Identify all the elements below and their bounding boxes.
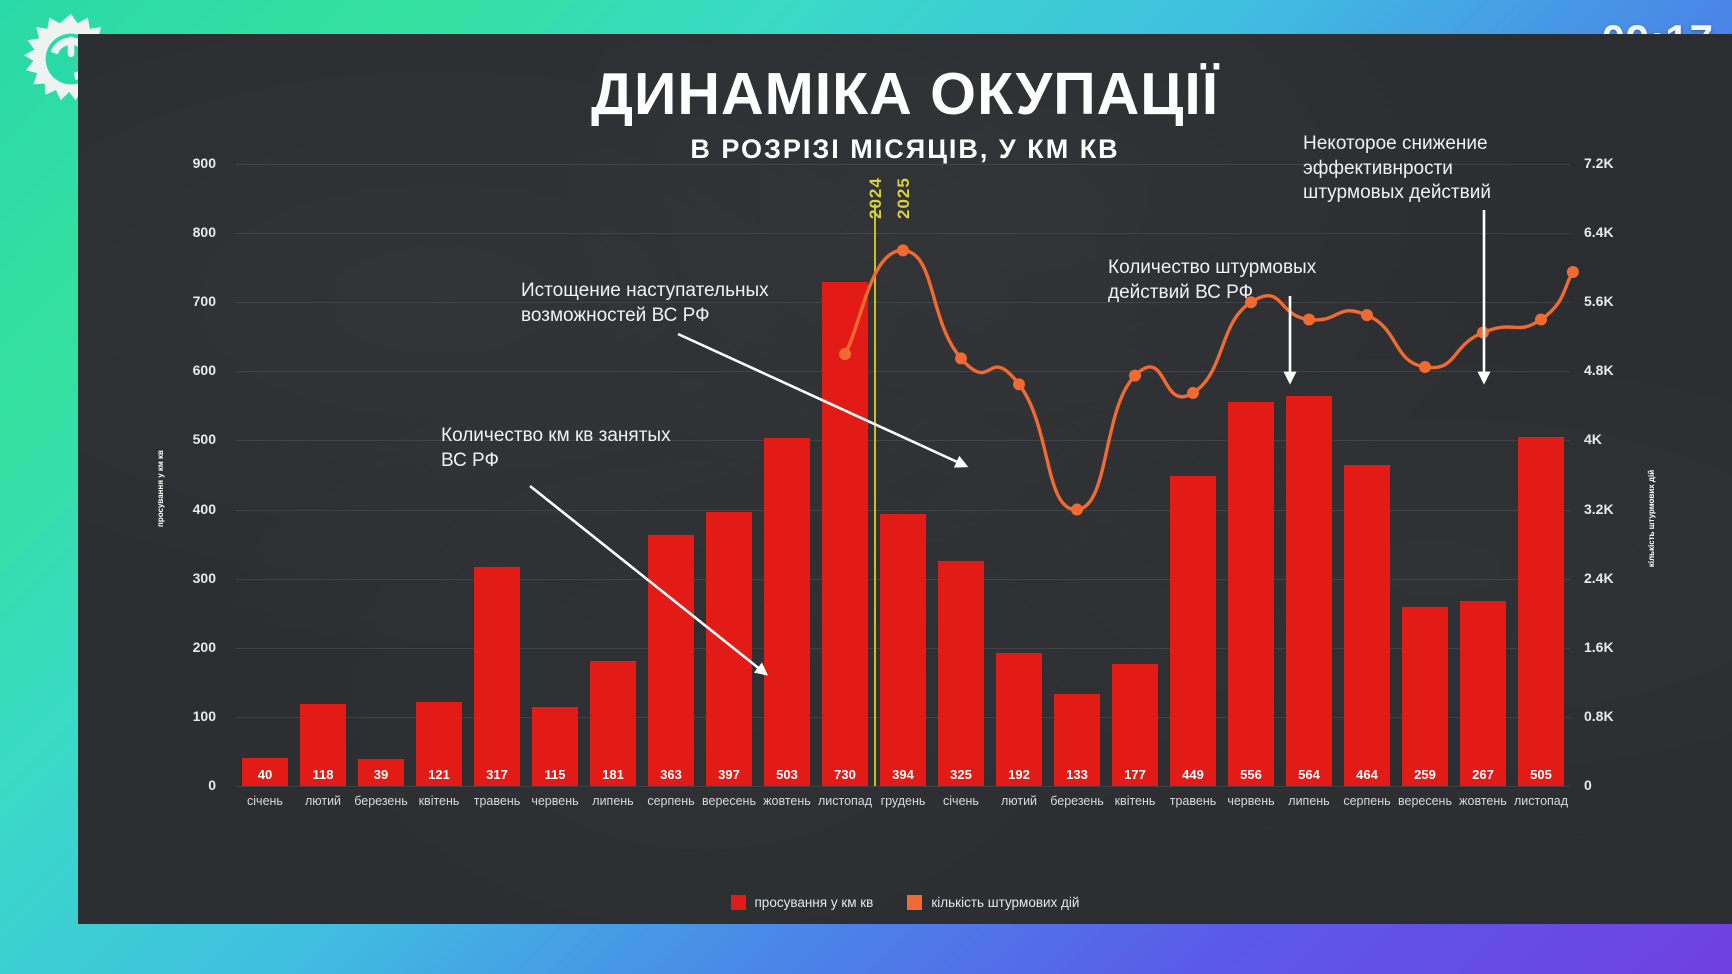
y-axis-right-tick: 0 [1584,777,1630,793]
bar-value-label: 121 [416,767,462,782]
year-label-2024: 2024 [866,177,886,219]
bar-column[interactable]: 397 [706,512,752,786]
bar-column[interactable]: 118 [300,704,346,786]
bar[interactable] [474,567,520,786]
y-axis-right-tick: 7.2K [1584,155,1630,171]
x-axis-month-labels: січеньлютийберезеньквітеньтравеньчервень… [236,790,1570,820]
bar-column[interactable]: 363 [648,535,694,786]
chart-legend: просування у км квкількість штурмових ді… [78,895,1732,910]
bar[interactable] [1286,396,1332,786]
y-axis-right-tick: 5.6K [1584,293,1630,309]
bar-column[interactable]: 267 [1460,601,1506,786]
bar-value-label: 325 [938,767,984,782]
y-axis-left-tick: 700 [170,293,216,309]
y-axis-left-title: просування у км кв [156,450,165,527]
bar-value-label: 505 [1518,767,1564,782]
y-axis-right-title: кількість штурмових дій [1647,470,1656,567]
bar-column[interactable]: 449 [1170,476,1216,786]
x-axis-tick-label: листопад [1500,794,1582,808]
bar-column[interactable]: 325 [938,561,984,786]
bar-column[interactable]: 503 [764,438,810,786]
bar-column[interactable]: 181 [590,661,636,786]
legend-item[interactable]: просування у км кв [731,895,874,910]
bar-value-label: 40 [242,767,288,782]
bar[interactable] [648,535,694,786]
bar-value-label: 267 [1460,767,1506,782]
y-axis-right-tick: 4K [1584,431,1630,447]
bar[interactable] [938,561,984,786]
y-axis-right-tick: 0.8K [1584,708,1630,724]
anno-exhaustion: Истощение наступательных возможностей ВС… [521,279,811,328]
bar-column[interactable]: 39 [358,759,404,786]
legend-label: кількість штурмових дій [931,895,1079,910]
y-axis-right-tick: 4.8K [1584,362,1630,378]
bar-value-label: 192 [996,767,1042,782]
y-axis-left-tick: 200 [170,639,216,655]
bar-column[interactable]: 121 [416,702,462,786]
y-axis-right-tick: 3.2K [1584,501,1630,517]
bar[interactable] [1460,601,1506,786]
year-label-2025: 2025 [894,177,914,219]
bar-column[interactable]: 317 [474,567,520,786]
bar-value-label: 363 [648,767,694,782]
bar-column[interactable]: 464 [1344,465,1390,786]
bar[interactable] [1344,465,1390,786]
chart-plot-area: 0100200300400500600700800900 00.8K1.6K2.… [158,164,1648,864]
bar-value-label: 556 [1228,767,1274,782]
bar-column[interactable]: 564 [1286,396,1332,786]
bar[interactable] [1170,476,1216,786]
anno-assault-count: Количество штурмовых действий ВС РФ [1108,256,1368,305]
bar[interactable] [1518,437,1564,786]
bar-value-label: 730 [822,767,868,782]
anno-efficiency-drop: Некоторое снижение эффективнрости штурмо… [1303,132,1538,206]
y-axis-left-tick: 800 [170,224,216,240]
y-axis-left-tick: 300 [170,570,216,586]
bar-value-label: 177 [1112,767,1158,782]
anno-km-occupied: Количество км кв занятых ВС РФ [441,424,671,473]
bar-value-label: 259 [1402,767,1448,782]
bar-value-label: 181 [590,767,636,782]
bar[interactable] [822,282,868,787]
bar-column[interactable]: 177 [1112,664,1158,786]
bar[interactable] [706,512,752,786]
bar-value-label: 394 [880,767,926,782]
y-axis-left-tick: 0 [170,777,216,793]
y-axis-left-tick: 400 [170,501,216,517]
legend-item[interactable]: кількість штурмових дій [907,895,1079,910]
bar[interactable] [1402,607,1448,786]
bar-value-label: 118 [300,767,346,782]
bar-value-label: 133 [1054,767,1100,782]
bar-column[interactable]: 259 [1402,607,1448,786]
y-axis-right-tick: 1.6K [1584,639,1630,655]
y-axis-left-tick: 900 [170,155,216,171]
bar-value-label: 464 [1344,767,1390,782]
bar-value-label: 449 [1170,767,1216,782]
page-title: ДИНАМІКА ОКУПАЦІЇ [78,60,1732,128]
bar-column[interactable]: 394 [880,514,926,786]
presentation-slide: ДИНАМІКА ОКУПАЦІЇ В РОЗРІЗІ МІСЯЦІВ, У К… [78,34,1732,924]
bar-column[interactable]: 192 [996,653,1042,786]
gridline [236,786,1570,787]
bar[interactable] [1228,402,1274,786]
bar-value-label: 115 [532,767,578,782]
square-swatch-icon [731,895,746,910]
y-axis-right-tick: 6.4K [1584,224,1630,240]
bar-column[interactable]: 556 [1228,402,1274,786]
bar-value-label: 317 [474,767,520,782]
y-axis-left-tick: 600 [170,362,216,378]
y-axis-right-tick: 2.4K [1584,570,1630,586]
y-axis-left-tick: 500 [170,431,216,447]
bar-value-label: 564 [1286,767,1332,782]
bar-column[interactable]: 730 [822,282,868,787]
bar[interactable] [880,514,926,786]
bar-column[interactable]: 133 [1054,694,1100,786]
square-swatch-icon [907,895,922,910]
year-divider-line [874,204,876,786]
y-axis-left-tick: 100 [170,708,216,724]
bar-value-label: 39 [358,767,404,782]
bar-series: 4011839121317115181363397503730394325192… [236,164,1570,786]
bar-value-label: 397 [706,767,752,782]
bar-value-label: 503 [764,767,810,782]
bar[interactable] [764,438,810,786]
bar-column[interactable]: 40 [242,758,288,786]
bar-column[interactable]: 115 [532,707,578,786]
bar-column[interactable]: 505 [1518,437,1564,786]
legend-label: просування у км кв [755,895,874,910]
